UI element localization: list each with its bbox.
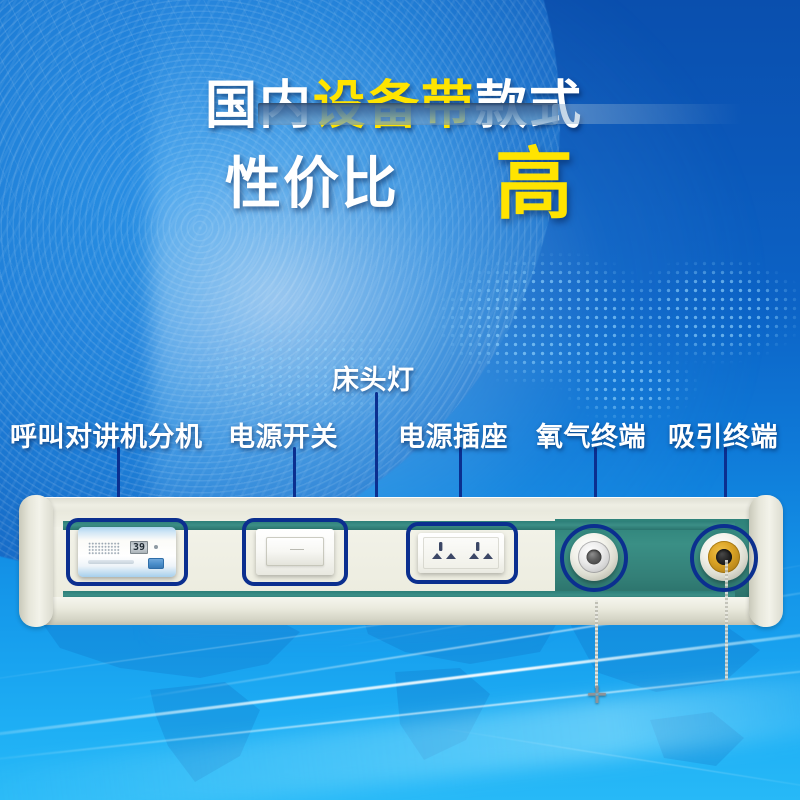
power-socket-outlet[interactable] — [418, 533, 504, 573]
callout-label-suction-terminal: 吸引终端 — [668, 415, 778, 454]
bed-light-diffuser — [258, 103, 558, 125]
status-led-icon — [154, 545, 158, 549]
oxygen-port-core — [587, 550, 602, 565]
switch-label-line — [290, 549, 304, 550]
speaker-grille-icon — [88, 542, 120, 555]
socket-faceplate — [423, 537, 499, 569]
callout-label-power-switch: 电源开关 — [228, 415, 338, 454]
promo-banner: 国内设备带款式 性价比 高 呼叫对讲机分机 电源开关 床头灯 电源插座 氧气终端… — [0, 0, 800, 800]
intercom-call-button[interactable] — [148, 558, 164, 569]
bhu-endcap-left — [19, 495, 53, 627]
pull-cord[interactable] — [595, 600, 598, 688]
callout-label-oxygen-terminal: 氧气终端 — [536, 415, 646, 454]
power-light-switch[interactable] — [256, 529, 334, 575]
pull-cord-secondary[interactable] — [725, 560, 728, 680]
callout-label-bed-light: 床头灯 — [332, 358, 415, 397]
socket-pin-slots-icon — [423, 537, 499, 569]
switch-rocker[interactable] — [266, 537, 324, 566]
intercom-display: 39 — [130, 541, 148, 554]
bhu-bottom-rail — [25, 597, 777, 625]
bhu-endcap-right — [749, 495, 783, 627]
bed-light-diffuser-tail — [552, 104, 742, 124]
oxygen-terminal-port[interactable] — [570, 533, 618, 581]
suction-port-core — [716, 549, 732, 565]
callout-label-power-socket: 电源插座 — [398, 415, 508, 454]
pull-cord-handle[interactable]: ✛ — [586, 683, 608, 707]
intercom-vent-slot — [88, 560, 134, 564]
callout-label-intercom: 呼叫对讲机分机 — [10, 415, 203, 454]
suction-terminal-port[interactable] — [700, 533, 748, 581]
nurse-call-intercom-unit[interactable]: 39 — [78, 527, 176, 577]
halftone-dots-worldmap — [430, 250, 800, 435]
